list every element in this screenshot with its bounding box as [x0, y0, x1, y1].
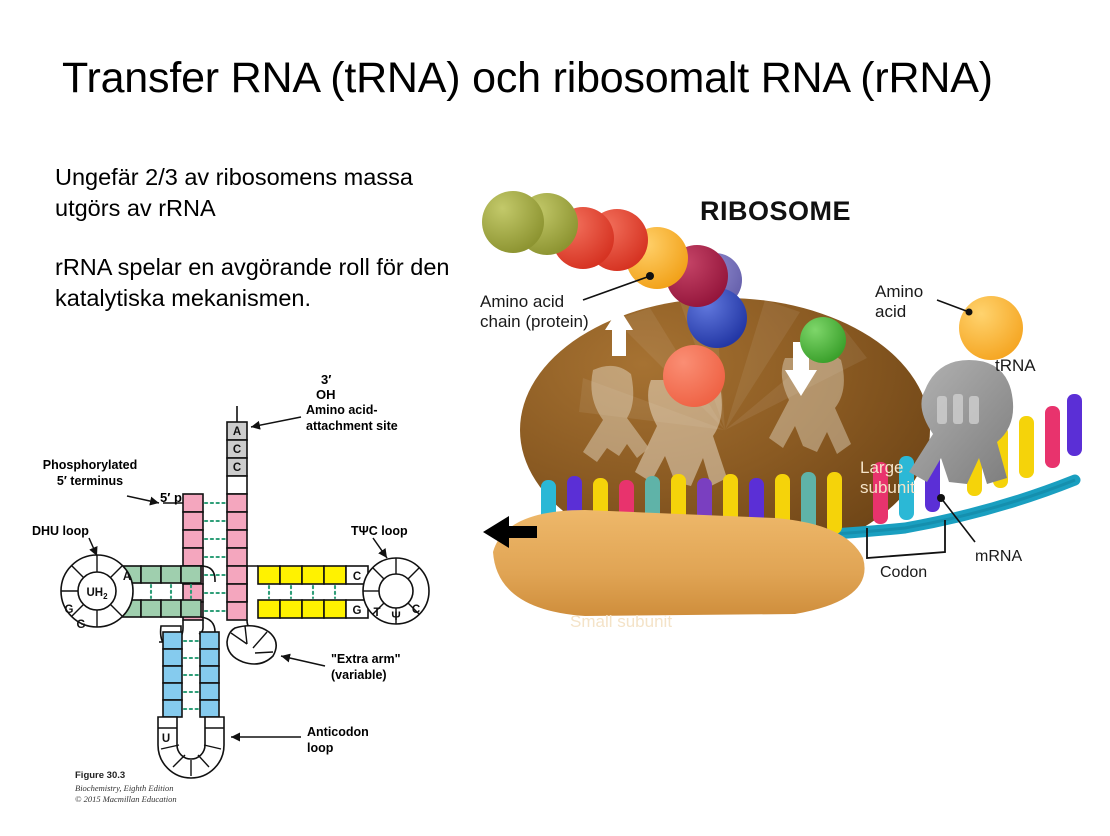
extra-arm-lobe: [227, 626, 276, 664]
label-amino-acid: Amino acid: [875, 282, 923, 322]
svg-text:G: G: [353, 605, 362, 617]
ribosome-figure: RIBOSOME Amino acid chain (protein) Amin…: [475, 180, 1100, 680]
svg-text:C: C: [353, 571, 361, 583]
caption-source: Biochemistry, Eighth Edition: [75, 783, 177, 794]
slide-canvas: Transfer RNA (tRNA) och ribosomalt RNA (…: [0, 0, 1110, 836]
label-tpsic-loop: TΨC loop: [351, 524, 408, 540]
label-large-subunit: Large subunit: [860, 458, 915, 498]
leader-phosphorylated: [127, 496, 159, 503]
body-paragraph-2: rRNA spelar en avgörande roll för den ka…: [55, 252, 475, 314]
svg-text:A: A: [123, 571, 131, 583]
label-trna: tRNA: [995, 356, 1036, 376]
caption-figure-number: Figure 30.3: [75, 770, 177, 783]
leader-amino-attachment: [251, 417, 301, 427]
label-anticodon-loop: Anticodon loop: [307, 725, 369, 756]
label-mrna: mRNA: [975, 548, 1022, 567]
ribosome-title: RIBOSOME: [700, 196, 851, 227]
tpsic-loop-ring: T Ψ C: [363, 558, 429, 624]
label-3prime: 3′: [321, 372, 331, 388]
label-small-subunit: Small subunit: [570, 612, 672, 632]
leader-tpsic: [373, 538, 387, 558]
dhu-loop-ring: UH2 G G A: [61, 555, 133, 631]
anticodon-arm: [163, 617, 219, 717]
body-text-block: Ungefär 2/3 av ribosomens massa utgörs a…: [55, 162, 475, 314]
body-paragraph-1: Ungefär 2/3 av ribosomens massa utgörs a…: [55, 162, 475, 224]
anticodon-loop-ring: U: [158, 717, 224, 778]
tpsic-hbonds: [269, 586, 335, 598]
label-amino-acid-attachment-site: Amino acid- attachment site: [306, 403, 398, 434]
svg-text:C: C: [233, 462, 241, 474]
figure-caption: Figure 30.3 Biochemistry, Eighth Edition…: [75, 770, 177, 806]
caption-copyright: © 2015 Macmillan Education: [75, 794, 177, 805]
chain-sphere-1: [482, 191, 544, 253]
page-title: Transfer RNA (tRNA) och ribosomalt RNA (…: [62, 54, 1052, 103]
svg-text:C: C: [233, 444, 241, 456]
label-phosphorylated-5prime-terminus: Phosphorylated 5′ terminus: [20, 458, 160, 489]
svg-text:U: U: [162, 733, 170, 745]
free-amino-acid-sphere: [959, 296, 1023, 360]
svg-text:G: G: [77, 619, 86, 631]
sphere-incoming-amino-acid: [800, 317, 846, 363]
sphere-peptidyl: [663, 345, 725, 407]
svg-text:Ψ: Ψ: [391, 611, 400, 623]
trna-diagram-svg: .ol { stroke:#111; stroke-width:1.6; } .…: [55, 370, 455, 820]
acceptor-stem-3prime-strand: A C C: [227, 406, 247, 620]
label-dhu-loop: DHU loop: [32, 524, 89, 540]
label-oh: OH: [316, 387, 336, 403]
small-subunit-body: [493, 510, 865, 616]
ribosome-diagram-svg: [475, 180, 1100, 680]
trna-cloverleaf-figure: .ol { stroke:#111; stroke-width:1.6; } .…: [55, 370, 455, 820]
acceptor-hbonds: [205, 503, 225, 611]
svg-text:T: T: [373, 607, 380, 619]
label-amino-acid-chain: Amino acid chain (protein): [480, 292, 589, 332]
leader-dhu: [89, 538, 97, 556]
svg-text:G: G: [65, 604, 74, 616]
dhu-hbonds: [131, 585, 191, 598]
tpsic-arm: C G: [247, 566, 368, 632]
label-codon: Codon: [880, 564, 927, 583]
anticodon-hbonds: [184, 641, 198, 709]
svg-text:C: C: [412, 604, 420, 616]
label-5prime-p: 5′ p: [160, 490, 182, 506]
label-extra-arm: "Extra arm" (variable): [331, 652, 401, 683]
leader-extra-arm: [281, 656, 325, 666]
svg-text:A: A: [233, 426, 241, 438]
